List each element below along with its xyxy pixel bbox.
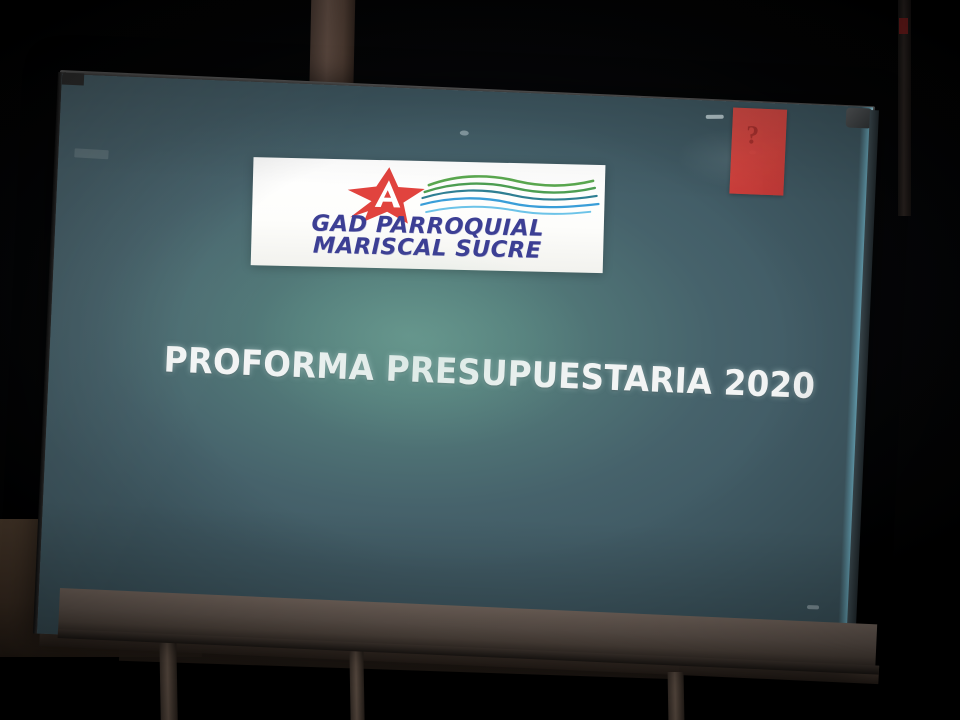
screen-reflection-speck [460,130,469,135]
projection-screen-surface: GAD PARROQUIAL MARISCAL SUCRE PROFORMA P… [37,74,873,667]
board-support-leg [349,648,364,720]
sticky-note-mark: ? [744,124,772,171]
board-corner-bracket-top-left [62,73,85,86]
red-sticky-note: ? [729,108,787,196]
presentation-photo-scene: GAD PARROQUIAL MARISCAL SUCRE PROFORMA P… [0,0,960,720]
pole-red-marking [899,18,908,34]
board-support-leg [159,632,178,720]
board-corner-label [74,148,108,159]
screen-reflection-speck [706,115,724,119]
slide-title: PROFORMA PRESUPUESTARIA 2020 [163,340,759,404]
logo-placard: GAD PARROQUIAL MARISCAL SUCRE [251,157,606,273]
screen-reflection-speck [807,605,819,609]
board-support-leg [668,672,685,720]
logo-text-block: GAD PARROQUIAL MARISCAL SUCRE [251,211,604,263]
